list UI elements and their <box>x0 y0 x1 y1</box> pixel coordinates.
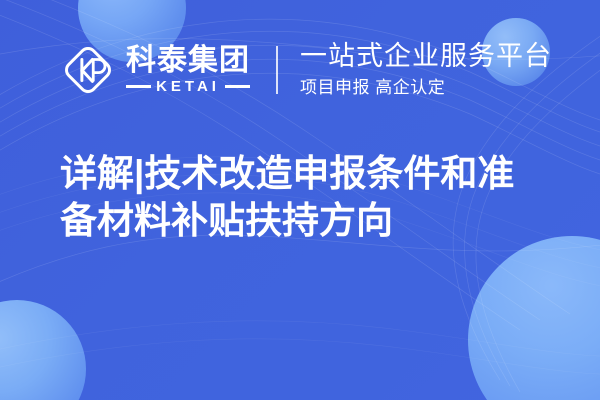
brand-text: 科泰集团 KETAI <box>126 46 250 94</box>
banner-header: 科泰集团 KETAI 一站式企业服务平台 项目申报 高企认定 <box>0 0 600 140</box>
tagline-sub: 项目申报 高企认定 <box>300 79 552 98</box>
brand-dash-left <box>126 85 151 88</box>
tagline-main: 一站式企业服务平台 <box>300 42 552 72</box>
banner-title-area: 详解|技术改造申报条件和准备材料补贴扶持方向 <box>60 150 540 245</box>
brand-dash-right <box>225 85 250 88</box>
promo-banner: 科泰集团 KETAI 一站式企业服务平台 项目申报 高企认定 详解|技术改造申报… <box>0 0 600 400</box>
ketai-diamond-kp-logo-icon <box>60 42 116 98</box>
tagline-block: 一站式企业服务平台 项目申报 高企认定 <box>300 42 552 97</box>
brand-name-cn: 科泰集团 <box>126 46 250 77</box>
header-divider <box>276 46 278 94</box>
brand-name-en-row: KETAI <box>126 79 250 94</box>
brand-name-en: KETAI <box>156 79 220 94</box>
brand-lockup: 科泰集团 KETAI <box>60 42 250 98</box>
page-title: 详解|技术改造申报条件和准备材料补贴扶持方向 <box>60 150 540 245</box>
